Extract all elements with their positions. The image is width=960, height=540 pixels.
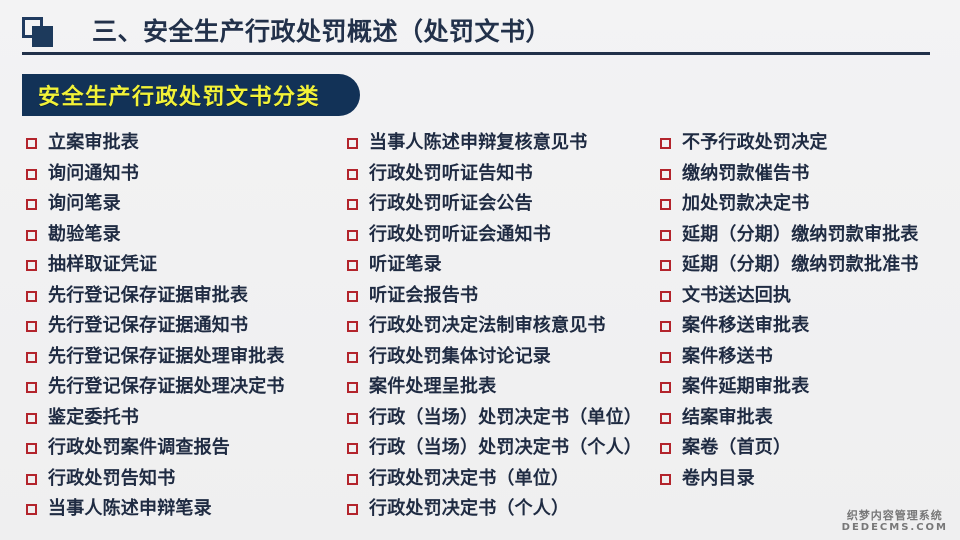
hollow-square-bullet-icon [26,321,37,332]
hollow-square-bullet-icon [660,474,671,485]
list-item-label: 听证会报告书 [369,284,478,308]
list-item: 先行登记保存证据通知书 [26,314,285,345]
hollow-square-bullet-icon [660,138,671,149]
list-item-label: 先行登记保存证据处理决定书 [48,375,285,399]
list-item: 询问通知书 [26,162,285,193]
hollow-square-bullet-icon [660,199,671,210]
document-column-1: 立案审批表询问通知书询问笔录勘验笔录抽样取证凭证先行登记保存证据审批表先行登记保… [26,131,285,528]
list-item: 立案审批表 [26,131,285,162]
section-banner-label: 安全生产行政处罚文书分类 [38,79,320,111]
list-item: 询问笔录 [26,192,285,223]
list-item-label: 案件延期审批表 [682,375,809,399]
list-item: 行政（当场）处罚决定书（个人） [347,436,642,467]
hollow-square-bullet-icon [347,382,358,393]
hollow-square-bullet-icon [660,169,671,180]
list-item: 文书送达回执 [660,284,919,315]
list-item-label: 加处罚款决定书 [682,192,809,216]
list-item-label: 立案审批表 [48,131,139,155]
list-item-label: 案卷（首页） [682,436,791,460]
list-item-label: 抽样取证凭证 [48,253,157,277]
list-item-label: 先行登记保存证据审批表 [48,284,248,308]
hollow-square-bullet-icon [347,169,358,180]
hollow-square-bullet-icon [660,321,671,332]
hollow-square-bullet-icon [347,138,358,149]
hollow-square-bullet-icon [660,291,671,302]
hollow-square-bullet-icon [660,382,671,393]
hollow-square-bullet-icon [347,199,358,210]
watermark-cn-text: 织梦内容管理系统 [842,509,948,522]
list-item: 延期（分期）缴纳罚款审批表 [660,223,919,254]
list-item: 行政处罚决定书（单位） [347,467,642,498]
list-item: 案件移送书 [660,345,919,376]
hollow-square-bullet-icon [26,138,37,149]
list-item-label: 案件移送审批表 [682,314,809,338]
hollow-square-bullet-icon [660,413,671,424]
hollow-square-bullet-icon [347,230,358,241]
list-item: 行政处罚听证会通知书 [347,223,642,254]
list-item: 加处罚款决定书 [660,192,919,223]
list-item: 先行登记保存证据审批表 [26,284,285,315]
two-overlapping-squares-icon [22,17,56,47]
hollow-square-bullet-icon [26,352,37,363]
list-item: 不予行政处罚决定 [660,131,919,162]
list-item: 先行登记保存证据处理决定书 [26,375,285,406]
list-item-label: 行政处罚案件调查报告 [48,436,230,460]
hollow-square-bullet-icon [347,260,358,271]
document-column-3: 不予行政处罚决定缴纳罚款催告书加处罚款决定书延期（分期）缴纳罚款审批表延期（分期… [660,131,919,497]
hollow-square-bullet-icon [26,413,37,424]
hollow-square-bullet-icon [26,260,37,271]
list-item: 行政处罚告知书 [26,467,285,498]
document-list-columns: 立案审批表询问通知书询问笔录勘验笔录抽样取证凭证先行登记保存证据审批表先行登记保… [0,131,960,531]
list-item-label: 延期（分期）缴纳罚款批准书 [682,253,919,277]
list-item: 行政处罚听证告知书 [347,162,642,193]
list-item-label: 行政（当场）处罚决定书（个人） [369,436,642,460]
list-item: 当事人陈述申辩复核意见书 [347,131,642,162]
list-item: 听证笔录 [347,253,642,284]
list-item: 行政处罚决定法制审核意见书 [347,314,642,345]
list-item: 鉴定委托书 [26,406,285,437]
list-item: 行政处罚集体讨论记录 [347,345,642,376]
hollow-square-bullet-icon [660,352,671,363]
list-item: 听证会报告书 [347,284,642,315]
list-item: 先行登记保存证据处理审批表 [26,345,285,376]
list-item-label: 案件移送书 [682,345,773,369]
page-title: 三、安全生产行政处罚概述（处罚文书） [92,12,551,48]
list-item-label: 行政（当场）处罚决定书（单位） [369,406,642,430]
list-item-label: 鉴定委托书 [48,406,139,430]
hollow-square-bullet-icon [26,291,37,302]
list-item-label: 行政处罚决定法制审核意见书 [369,314,606,338]
list-item: 案件延期审批表 [660,375,919,406]
list-item: 行政处罚听证会公告 [347,192,642,223]
slide-header: 三、安全生产行政处罚概述（处罚文书） [0,0,960,62]
list-item-label: 先行登记保存证据处理审批表 [48,345,285,369]
hollow-square-bullet-icon [660,230,671,241]
list-item-label: 行政处罚决定书（单位） [369,467,569,491]
list-item: 卷内目录 [660,467,919,498]
list-item: 行政处罚决定书（个人） [347,497,642,528]
hollow-square-bullet-icon [347,443,358,454]
list-item-label: 勘验笔录 [48,223,121,247]
list-item-label: 行政处罚听证告知书 [369,162,533,186]
list-item-label: 行政处罚决定书（个人） [369,497,569,521]
list-item-label: 延期（分期）缴纳罚款审批表 [682,223,919,247]
list-item: 缴纳罚款催告书 [660,162,919,193]
list-item-label: 行政处罚听证会通知书 [369,223,551,247]
hollow-square-bullet-icon [347,504,358,515]
watermark-en-text: DEDECMS.COM [842,522,948,534]
document-column-2: 当事人陈述申辩复核意见书行政处罚听证告知书行政处罚听证会公告行政处罚听证会通知书… [347,131,642,528]
hollow-square-bullet-icon [26,230,37,241]
list-item: 当事人陈述申辩笔录 [26,497,285,528]
list-item-label: 缴纳罚款催告书 [682,162,809,186]
list-item: 行政处罚案件调查报告 [26,436,285,467]
list-item-label: 询问通知书 [48,162,139,186]
list-item: 案件移送审批表 [660,314,919,345]
hollow-square-bullet-icon [347,474,358,485]
list-item-label: 听证笔录 [369,253,442,277]
list-item-label: 结案审批表 [682,406,773,430]
list-item-label: 不予行政处罚决定 [682,131,828,155]
hollow-square-bullet-icon [26,199,37,210]
list-item: 案卷（首页） [660,436,919,467]
list-item: 行政（当场）处罚决定书（单位） [347,406,642,437]
list-item-label: 行政处罚听证会公告 [369,192,533,216]
list-item-label: 先行登记保存证据通知书 [48,314,248,338]
list-item-label: 行政处罚集体讨论记录 [369,345,551,369]
list-item: 抽样取证凭证 [26,253,285,284]
logo-square-filled [32,26,53,47]
hollow-square-bullet-icon [26,382,37,393]
list-item: 勘验笔录 [26,223,285,254]
slide-canvas: 三、安全生产行政处罚概述（处罚文书） 安全生产行政处罚文书分类 立案审批表询问通… [0,0,960,540]
list-item: 案件处理呈批表 [347,375,642,406]
hollow-square-bullet-icon [26,169,37,180]
hollow-square-bullet-icon [660,260,671,271]
list-item: 延期（分期）缴纳罚款批准书 [660,253,919,284]
hollow-square-bullet-icon [347,413,358,424]
watermark: 织梦内容管理系统 DEDECMS.COM [842,509,948,534]
list-item: 结案审批表 [660,406,919,437]
list-item-label: 当事人陈述申辩笔录 [48,497,212,521]
hollow-square-bullet-icon [347,321,358,332]
title-underline-rule [22,52,930,55]
hollow-square-bullet-icon [347,291,358,302]
list-item-label: 行政处罚告知书 [48,467,175,491]
hollow-square-bullet-icon [26,443,37,454]
list-item-label: 询问笔录 [48,192,121,216]
hollow-square-bullet-icon [26,504,37,515]
list-item-label: 案件处理呈批表 [369,375,496,399]
section-banner: 安全生产行政处罚文书分类 [22,74,360,116]
hollow-square-bullet-icon [26,474,37,485]
hollow-square-bullet-icon [347,352,358,363]
list-item-label: 卷内目录 [682,467,755,491]
list-item-label: 文书送达回执 [682,284,791,308]
list-item-label: 当事人陈述申辩复核意见书 [369,131,587,155]
hollow-square-bullet-icon [660,443,671,454]
